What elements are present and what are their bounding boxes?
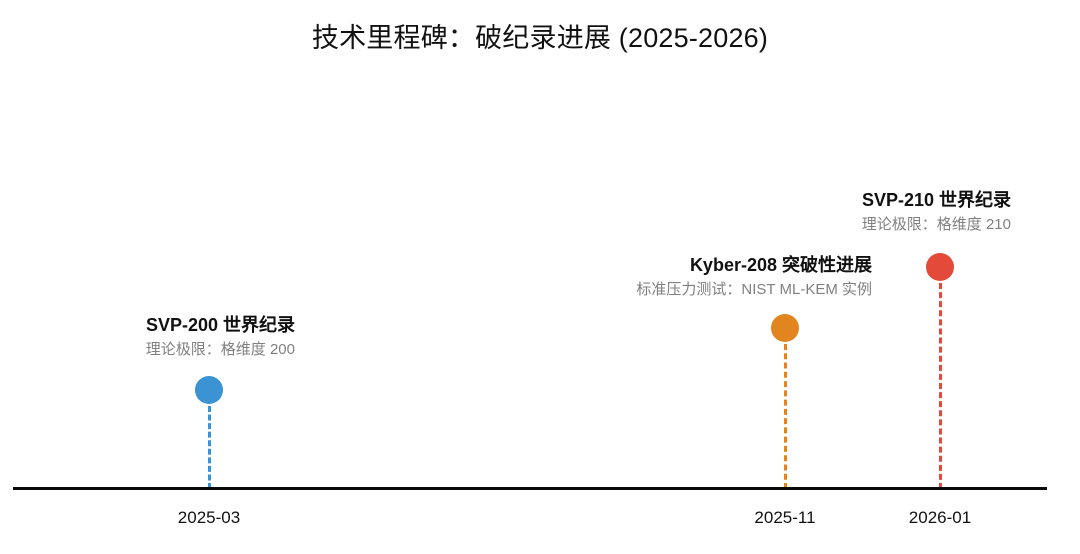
axis-tick-2025-03: 2025-03	[178, 508, 240, 528]
milestone-stem	[939, 283, 942, 489]
milestone-subtitle: 理论极限：格维度 200	[146, 338, 295, 362]
milestone-title: Kyber-208 突破性进展	[636, 252, 872, 278]
milestone-title: SVP-210 世界纪录	[862, 187, 1011, 213]
axis-tick-2026-01: 2026-01	[909, 508, 971, 528]
milestone-stem	[208, 406, 211, 489]
milestone-label-group: Kyber-208 突破性进展标准压力测试：NIST ML-KEM 实例	[636, 252, 872, 302]
milestone-title: SVP-200 世界纪录	[146, 312, 295, 338]
page-title: 技术里程碑：破纪录进展 (2025-2026)	[0, 16, 1080, 55]
milestone-label-group: SVP-200 世界纪录理论极限：格维度 200	[146, 312, 295, 362]
timeline-axis	[13, 487, 1047, 490]
milestone-marker[interactable]	[926, 253, 954, 281]
milestone-label-group: SVP-210 世界纪录理论极限：格维度 210	[862, 187, 1011, 237]
milestone-marker[interactable]	[195, 376, 223, 404]
milestone-subtitle: 标准压力测试：NIST ML-KEM 实例	[636, 278, 872, 302]
milestone-marker[interactable]	[771, 314, 799, 342]
timeline-chart: 技术里程碑：破纪录进展 (2025-2026) SVP-200 世界纪录理论极限…	[0, 0, 1080, 554]
axis-tick-2025-11: 2025-11	[754, 508, 815, 528]
milestone-stem	[784, 344, 787, 489]
milestone-subtitle: 理论极限：格维度 210	[862, 213, 1011, 237]
